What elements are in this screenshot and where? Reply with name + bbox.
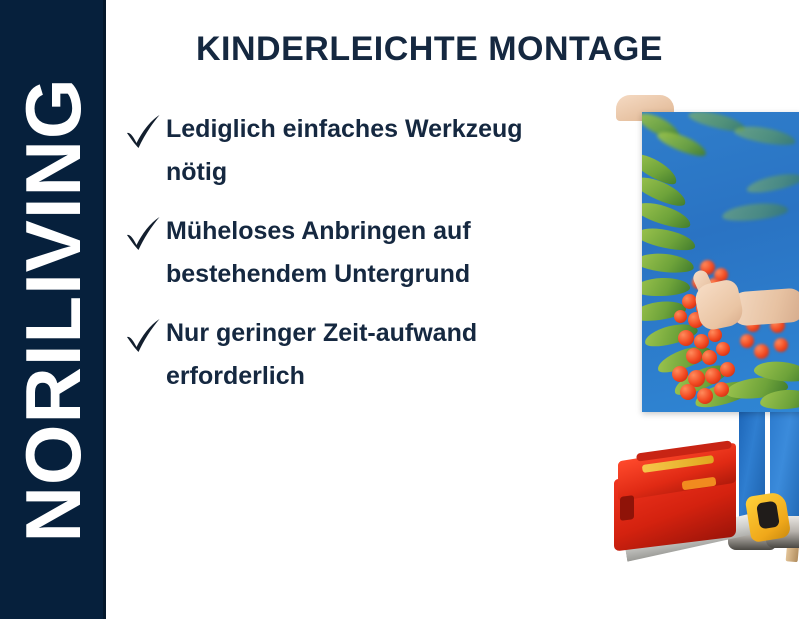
berry: [686, 348, 702, 364]
berry: [714, 382, 729, 397]
list-item-label: Lediglich einfaches Werkzeug nötig: [166, 106, 540, 194]
checkmark-icon: [120, 110, 166, 156]
brand-wordmark: NORILIVING: [14, 77, 92, 542]
list-item: Lediglich einfaches Werkzeug nötig: [120, 106, 540, 194]
berry: [708, 328, 722, 342]
list-item-label: Nur geringer Zeit-aufwand erforderlich: [166, 310, 540, 398]
list-item: Nur geringer Zeit-aufwand erforderlich: [120, 310, 540, 398]
product-photo: [496, 0, 799, 619]
list-item-label: Müheloses Anbringen auf bestehendem Unte…: [166, 208, 540, 296]
berry: [678, 330, 694, 346]
berry: [716, 342, 730, 356]
berry: [672, 366, 688, 382]
checkmark-icon: [120, 314, 166, 360]
toolbox-latch: [620, 495, 634, 521]
checkmark-icon: [120, 212, 166, 258]
berry: [694, 334, 709, 349]
berry: [702, 350, 717, 365]
berry: [754, 344, 769, 359]
handsaw-grip: [756, 501, 780, 530]
feature-list: Lediglich einfaches Werkzeug nötig Mühel…: [120, 106, 540, 412]
list-item: Müheloses Anbringen auf bestehendem Unte…: [120, 208, 540, 296]
content-area: KINDERLEICHTE MONTAGE Lediglich einfache…: [106, 0, 799, 619]
berry: [740, 334, 754, 348]
berry: [774, 338, 788, 352]
promo-banner: NORILIVING KINDERLEICHTE MONTAGE Ledigli…: [0, 0, 799, 619]
brand-rail: NORILIVING: [0, 0, 106, 619]
berry: [674, 310, 687, 323]
berry: [697, 388, 713, 404]
canvas-print: [642, 112, 799, 412]
berry: [720, 362, 735, 377]
berry: [680, 384, 696, 400]
